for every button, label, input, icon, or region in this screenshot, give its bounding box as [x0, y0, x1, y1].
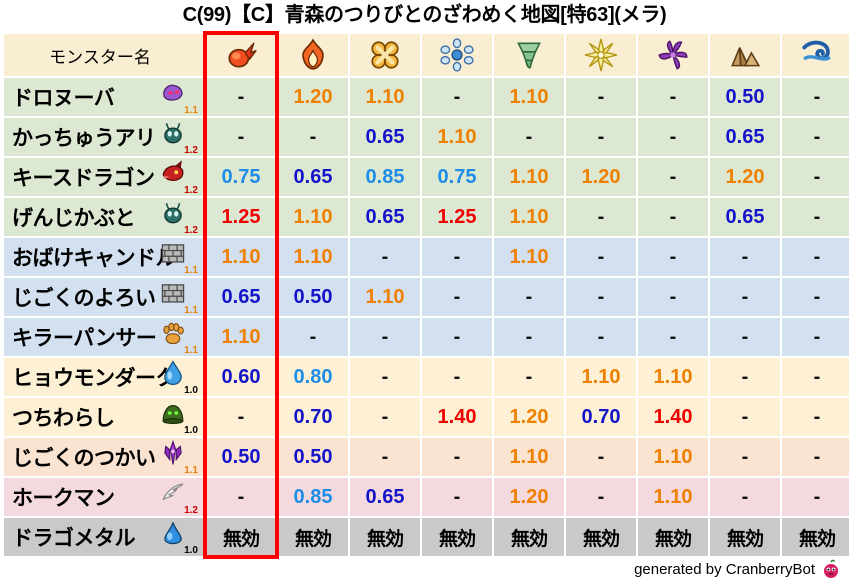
resistance-cell: 無効 — [278, 518, 348, 556]
resistance-cell: - — [782, 78, 849, 116]
resistance-cell: - — [638, 158, 708, 196]
resistance-cell: 0.85 — [350, 158, 420, 196]
resistance-cell: - — [494, 318, 564, 356]
table-row: ホークマン1.2-0.850.65-1.20-1.10-- — [4, 478, 849, 516]
monster-level-multiplier: 1.2 — [184, 185, 198, 196]
resistance-cell: - — [350, 318, 420, 356]
resistance-cell: 0.60 — [206, 358, 276, 396]
tornado-icon — [512, 38, 546, 72]
monster-level-multiplier: 1.1 — [184, 105, 198, 116]
resistance-cell: - — [350, 358, 420, 396]
resistance-cell: 0.85 — [278, 478, 348, 516]
monster-name-cell[interactable]: じごくのよろい1.1 — [4, 278, 204, 316]
table-row: じごくのよろい1.10.650.501.10------ — [4, 278, 849, 316]
resistance-cell: 1.10 — [422, 118, 492, 156]
resistance-cell: - — [206, 478, 276, 516]
table-row: ヒョウモンダーク1.00.600.80---1.101.10-- — [4, 358, 849, 396]
mountain-icon — [728, 38, 762, 72]
brick-wall-icon — [160, 240, 186, 266]
resistance-cell: 1.10 — [638, 438, 708, 476]
table-row: つちわらし1.0-0.70-1.401.200.701.40-- — [4, 398, 849, 436]
table-row: かっちゅうアリ1.2--0.651.10---0.65- — [4, 118, 849, 156]
resistance-cell: 0.75 — [206, 158, 276, 196]
element-column-header-fireball[interactable] — [206, 34, 276, 76]
water-drop-icon — [160, 360, 186, 386]
monster-name-cell[interactable]: つちわらし1.0 — [4, 398, 204, 436]
table-row: じごくのつかい1.10.500.50--1.10-1.10-- — [4, 438, 849, 476]
monster-name-label: キースドラゴン — [12, 162, 154, 192]
resistance-cell: 1.10 — [494, 438, 564, 476]
resistance-cell: - — [494, 118, 564, 156]
monster-name-label: おばけキャンドル — [12, 242, 176, 272]
resistance-cell: 0.50 — [710, 78, 780, 116]
resistance-cell: - — [566, 118, 636, 156]
monster-name-cell[interactable]: ホークマン1.2 — [4, 478, 204, 516]
resistance-cell: - — [782, 318, 849, 356]
monster-level-multiplier: 1.2 — [184, 225, 198, 236]
resistance-cell: 1.25 — [206, 198, 276, 236]
resistance-cell: - — [710, 438, 780, 476]
resistance-cell: - — [350, 398, 420, 436]
resistance-cell: 1.10 — [494, 78, 564, 116]
paw-print-icon — [160, 320, 186, 346]
resistance-cell: 1.10 — [206, 318, 276, 356]
white-wing-icon — [160, 480, 186, 506]
resistance-cell: - — [566, 318, 636, 356]
resistance-cell: 0.65 — [350, 478, 420, 516]
resistance-cell: 0.50 — [278, 278, 348, 316]
dark-swirl-icon — [656, 38, 690, 72]
resistance-cell: - — [782, 358, 849, 396]
resistance-cell: 1.10 — [494, 158, 564, 196]
resistance-cell: 無効 — [422, 518, 492, 556]
resistance-cell: 0.75 — [422, 158, 492, 196]
resistance-cell: - — [710, 278, 780, 316]
resistance-cell: - — [710, 358, 780, 396]
explosion-icon — [368, 38, 402, 72]
monster-name-label: つちわらし — [12, 402, 115, 432]
monster-name-label: キラーパンサー — [12, 322, 156, 352]
resistance-cell: - — [782, 158, 849, 196]
resistance-cell: 1.20 — [278, 78, 348, 116]
monster-level-multiplier: 1.1 — [184, 265, 198, 276]
resistance-cell: - — [422, 278, 492, 316]
teal-ant-icon — [160, 200, 186, 226]
purple-ghost-icon — [160, 80, 186, 106]
resistance-cell: 1.10 — [206, 238, 276, 276]
resistance-cell: - — [566, 438, 636, 476]
resistance-cell: - — [638, 318, 708, 356]
resistance-cell: 1.10 — [494, 198, 564, 236]
resistance-cell: 1.10 — [494, 238, 564, 276]
resistance-cell: - — [494, 358, 564, 396]
element-column-header-snowflake[interactable] — [422, 34, 492, 76]
resistance-cell: 無効 — [710, 518, 780, 556]
monster-level-multiplier: 1.2 — [184, 505, 198, 516]
resistance-cell: 0.65 — [710, 198, 780, 236]
resistance-cell: 0.65 — [206, 278, 276, 316]
table-row: げんじかぶと1.21.251.100.651.251.10--0.65- — [4, 198, 849, 236]
resistance-cell: - — [638, 78, 708, 116]
monster-name-label: じごくのよろい — [12, 282, 156, 312]
resistance-cell: 0.65 — [350, 198, 420, 236]
resistance-cell: - — [782, 278, 849, 316]
resistance-cell: 0.65 — [278, 158, 348, 196]
resistance-cell: 0.50 — [278, 438, 348, 476]
element-column-header-explosion[interactable] — [350, 34, 420, 76]
monster-level-multiplier: 1.2 — [184, 145, 198, 156]
table-row: ドラゴメタル1.0無効無効無効無効無効無効無効無効無効 — [4, 518, 849, 556]
monster-name-cell[interactable]: おばけキャンドル1.1 — [4, 238, 204, 276]
monster-name-cell[interactable]: じごくのつかい1.1 — [4, 438, 204, 476]
monster-name-header: モンスター名 — [4, 34, 204, 76]
red-dragon-icon — [160, 160, 186, 186]
table-header-row: モンスター名 — [4, 34, 849, 76]
resistance-cell: 0.50 — [206, 438, 276, 476]
resistance-cell: - — [350, 238, 420, 276]
cranberry-icon — [821, 559, 841, 579]
monster-name-label: ホークマン — [12, 482, 115, 512]
resistance-cell: 1.40 — [638, 398, 708, 436]
element-column-header-mountain[interactable] — [710, 34, 780, 76]
resistance-cell: - — [422, 318, 492, 356]
resistance-cell: - — [638, 118, 708, 156]
resistance-cell: - — [782, 478, 849, 516]
monster-level-multiplier: 1.0 — [184, 425, 198, 436]
resistance-cell: - — [782, 118, 849, 156]
element-column-header-dark-swirl[interactable] — [638, 34, 708, 76]
table-row: ドロヌーバ1.1-1.201.10-1.10--0.50- — [4, 78, 849, 116]
resistance-cell: - — [278, 318, 348, 356]
resistance-cell: 1.10 — [638, 478, 708, 516]
monster-name-cell[interactable]: げんじかぶと1.2 — [4, 198, 204, 236]
resistance-cell: 1.25 — [422, 198, 492, 236]
resistance-cell: - — [422, 478, 492, 516]
snowflake-icon — [440, 38, 474, 72]
monster-name-label: じごくのつかい — [12, 442, 156, 472]
resistance-cell: - — [782, 438, 849, 476]
fireball-icon — [224, 38, 258, 72]
resistance-cell: 1.10 — [278, 238, 348, 276]
resistance-cell: 0.70 — [566, 398, 636, 436]
element-column-header-light-star[interactable] — [566, 34, 636, 76]
resistance-cell: - — [566, 238, 636, 276]
resistance-cell: 無効 — [638, 518, 708, 556]
resistance-cell: - — [350, 438, 420, 476]
resistance-cell: 1.10 — [350, 78, 420, 116]
resistance-cell: 無効 — [206, 518, 276, 556]
resistance-cell: - — [710, 318, 780, 356]
resistance-cell: - — [566, 478, 636, 516]
element-column-header-tornado[interactable] — [494, 34, 564, 76]
monster-name-cell[interactable]: ドラゴメタル1.0 — [4, 518, 204, 556]
brick-wall-icon — [160, 280, 186, 306]
resistance-cell: 1.20 — [494, 398, 564, 436]
resistance-cell: 1.10 — [350, 278, 420, 316]
monster-name-cell[interactable]: キースドラゴン1.2 — [4, 158, 204, 196]
monster-level-multiplier: 1.0 — [184, 385, 198, 396]
resistance-cell: 1.10 — [638, 358, 708, 396]
monster-name-label: ドラゴメタル — [12, 522, 135, 552]
monster-name-label: ヒョウモンダーク — [12, 362, 176, 392]
resistance-cell: - — [782, 198, 849, 236]
resistance-cell: - — [638, 198, 708, 236]
resistance-cell: - — [638, 278, 708, 316]
resistance-cell: 無効 — [782, 518, 849, 556]
resistance-cell: 1.10 — [566, 358, 636, 396]
monster-name-cell[interactable]: ドロヌーバ1.1 — [4, 78, 204, 116]
monster-name-cell[interactable]: かっちゅうアリ1.2 — [4, 118, 204, 156]
resistance-cell: - — [638, 238, 708, 276]
resistance-cell: 0.65 — [710, 118, 780, 156]
resistance-cell: - — [566, 198, 636, 236]
purple-plant-icon — [160, 440, 186, 466]
resistance-cell: 1.20 — [710, 158, 780, 196]
resistance-cell: 無効 — [566, 518, 636, 556]
table-row: おばけキャンドル1.11.101.10--1.10---- — [4, 238, 849, 276]
element-column-header-wave[interactable] — [782, 34, 849, 76]
resistance-cell: - — [782, 238, 849, 276]
resistance-cell: - — [422, 238, 492, 276]
monster-name-label: ドロヌーバ — [12, 82, 114, 112]
table-row: キラーパンサー1.11.10-------- — [4, 318, 849, 356]
resistance-cell: 1.40 — [422, 398, 492, 436]
resistance-cell: 無効 — [350, 518, 420, 556]
resistance-cell: - — [278, 118, 348, 156]
monster-level-multiplier: 1.1 — [184, 345, 198, 356]
resistance-cell: - — [206, 398, 276, 436]
resistance-cell: - — [206, 118, 276, 156]
resistance-cell: - — [422, 78, 492, 116]
resistance-cell: - — [710, 478, 780, 516]
resistance-table: モンスター名 ドロヌーバ1.1-1.201.10-1.10--0.50-かっちゅ… — [2, 32, 849, 558]
resistance-cell: - — [566, 278, 636, 316]
monster-name-cell[interactable]: ヒョウモンダーク1.0 — [4, 358, 204, 396]
monster-name-label: かっちゅうアリ — [12, 122, 156, 152]
flame-icon — [296, 38, 330, 72]
resistance-cell: 1.20 — [566, 158, 636, 196]
monster-name-cell[interactable]: キラーパンサー1.1 — [4, 318, 204, 356]
resistance-cell: - — [206, 78, 276, 116]
resistance-cell: 0.80 — [278, 358, 348, 396]
page-title: C(99)【C】青森のつりびとのざわめく地図[特63](メラ) — [0, 0, 849, 32]
monster-name-label: げんじかぶと — [12, 202, 135, 232]
resistance-cell: - — [566, 78, 636, 116]
footer-credit: generated by CranberryBot — [634, 559, 841, 579]
resistance-cell: - — [710, 398, 780, 436]
resistance-cell: - — [422, 358, 492, 396]
footer-text: generated by CranberryBot — [634, 561, 815, 578]
monster-level-multiplier: 1.1 — [184, 305, 198, 316]
resistance-cell: - — [494, 278, 564, 316]
table-body: ドロヌーバ1.1-1.201.10-1.10--0.50-かっちゅうアリ1.2-… — [4, 78, 849, 556]
resistance-cell: 1.10 — [278, 198, 348, 236]
table-row: キースドラゴン1.20.750.650.850.751.101.20-1.20- — [4, 158, 849, 196]
resistance-cell: - — [782, 398, 849, 436]
resistance-cell: 0.70 — [278, 398, 348, 436]
resistance-cell: - — [710, 238, 780, 276]
resistance-cell: 0.65 — [350, 118, 420, 156]
monster-level-multiplier: 1.0 — [184, 545, 198, 556]
resistance-cell: 無効 — [494, 518, 564, 556]
light-star-icon — [584, 38, 618, 72]
element-column-header-flame[interactable] — [278, 34, 348, 76]
resistance-cell: 1.20 — [494, 478, 564, 516]
blue-slime-icon — [160, 520, 186, 546]
teal-ant-icon — [160, 120, 186, 146]
resistance-cell: - — [422, 438, 492, 476]
green-slime-icon — [160, 400, 186, 426]
monster-level-multiplier: 1.1 — [184, 465, 198, 476]
wave-icon — [800, 38, 834, 72]
